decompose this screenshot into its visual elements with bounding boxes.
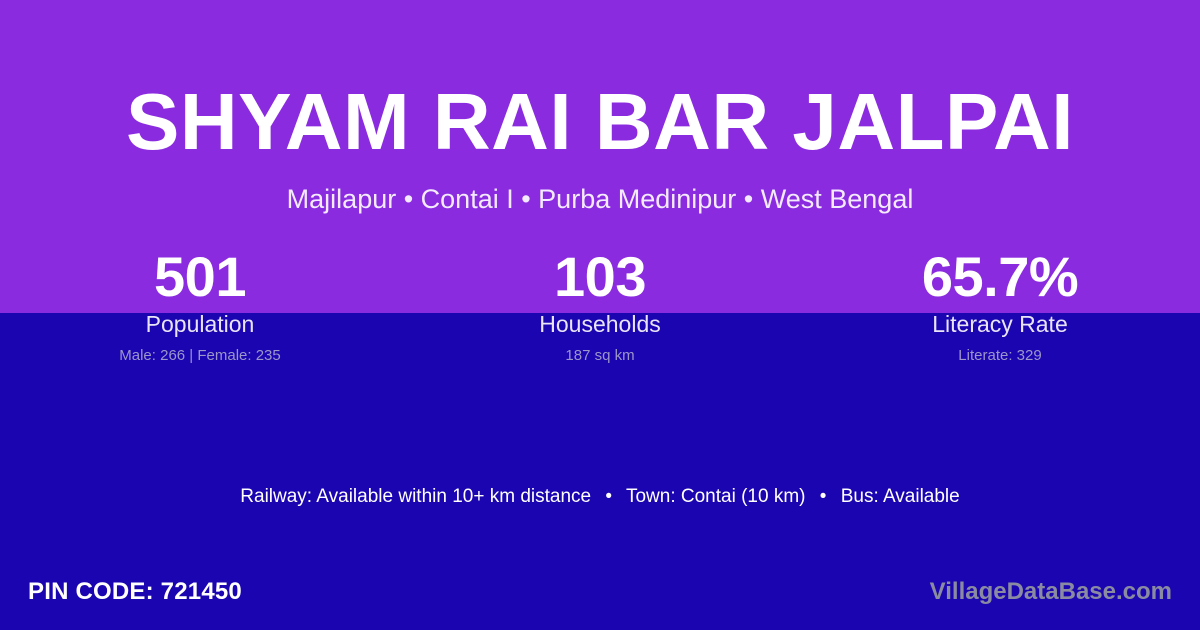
amenity-bus: Bus: Available <box>841 486 960 507</box>
stats-row: 501 Population Male: 266 | Female: 235 1… <box>0 248 1200 365</box>
amenities-line: Railway: Available within 10+ km distanc… <box>0 486 1200 509</box>
stat-literacy-rate: 65.7% Literacy Rate Literate: 329 <box>800 248 1200 365</box>
stat-label-population: Population <box>0 312 400 337</box>
amenity-separator-2: • <box>811 486 836 509</box>
amenity-town: Town: Contai (10 km) <box>626 486 806 507</box>
stat-sub-literacy-rate: Literate: 329 <box>800 348 1200 365</box>
stat-sub-population: Male: 266 | Female: 235 <box>0 348 400 365</box>
stat-value-households: 103 <box>400 248 800 305</box>
page-title: SHYAM RAI BAR JALPAI <box>0 82 1200 162</box>
stat-population: 501 Population Male: 266 | Female: 235 <box>0 248 400 365</box>
stat-label-literacy-rate: Literacy Rate <box>800 312 1200 337</box>
stat-label-households: Households <box>400 312 800 337</box>
amenity-separator-1: • <box>596 486 621 509</box>
pin-code: PIN CODE: 721450 <box>28 579 242 605</box>
amenity-railway: Railway: Available within 10+ km distanc… <box>240 486 591 507</box>
stat-value-literacy-rate: 65.7% <box>800 248 1200 305</box>
village-info-card: SHYAM RAI BAR JALPAI Majilapur • Contai … <box>0 0 1200 630</box>
breadcrumb: Majilapur • Contai I • Purba Medinipur •… <box>0 183 1200 215</box>
footer: PIN CODE: 721450 VillageDataBase.com <box>0 572 1200 612</box>
stat-value-population: 501 <box>0 248 400 305</box>
stat-households: 103 Households 187 sq km <box>400 248 800 365</box>
site-watermark: VillageDataBase.com <box>930 579 1172 605</box>
stat-sub-households: 187 sq km <box>400 348 800 365</box>
